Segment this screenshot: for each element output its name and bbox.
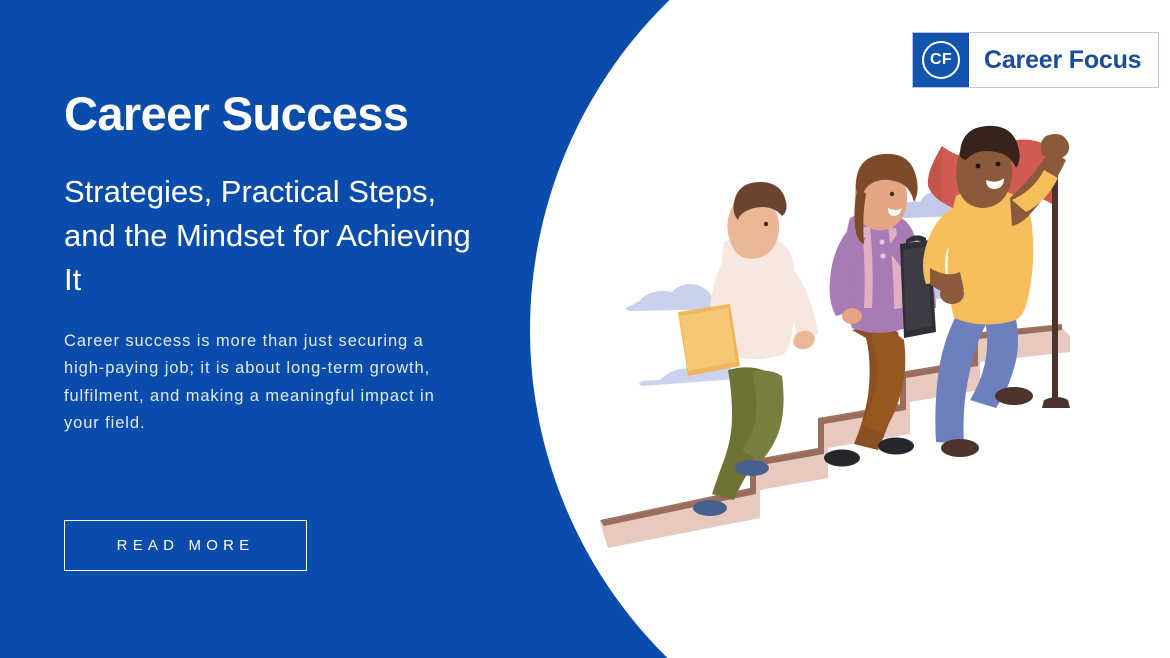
career-success-banner: Career Success Strategies, Practical Ste… (0, 0, 1170, 658)
text-content-column: Career Success Strategies, Practical Ste… (64, 0, 534, 658)
career-climb-illustration (600, 90, 1140, 560)
read-more-button[interactable]: READ MORE (64, 520, 307, 571)
page-subtitle: Strategies, Practical Steps, and the Min… (64, 170, 494, 302)
page-title: Career Success (64, 89, 408, 138)
logo-mark: CF (913, 33, 969, 87)
figure-leader-with-flag (923, 126, 1070, 457)
logo-wordmark: Career Focus (969, 33, 1158, 87)
logo-monogram-icon: CF (922, 41, 960, 79)
brand-logo[interactable]: CF Career Focus (912, 32, 1159, 88)
body-paragraph: Career success is more than just securin… (64, 328, 464, 438)
